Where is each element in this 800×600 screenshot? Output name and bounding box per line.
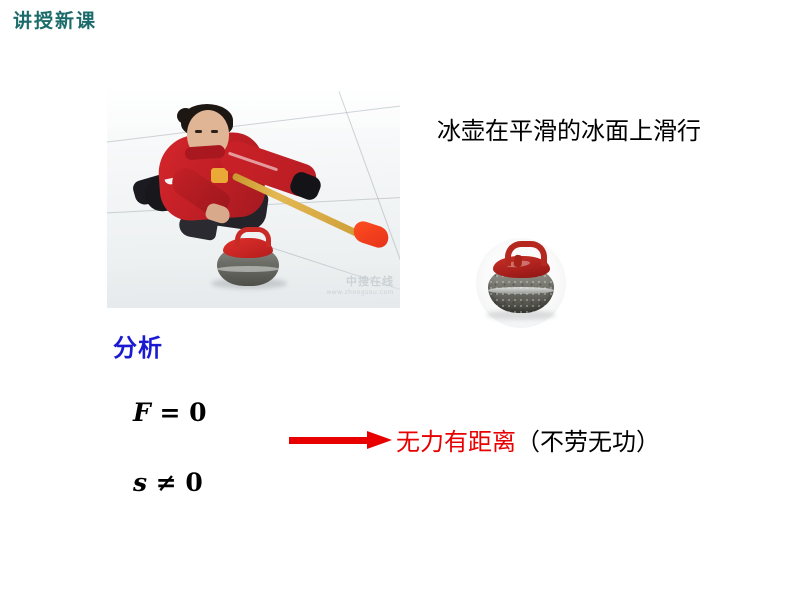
watermark-text: 中搜在线 <box>346 275 394 288</box>
athlete-eye <box>211 130 218 133</box>
conclusion-remainder: （不劳无功） <box>516 428 660 456</box>
athlete-eye <box>195 130 202 133</box>
photo-watermark: 中搜在线 www.zhongsou.com <box>326 275 394 296</box>
slide-canvas: 讲授新课 <box>0 0 800 600</box>
red-arrow-icon <box>289 430 392 450</box>
curling-stone-graphic <box>466 231 574 335</box>
athlete-collar <box>185 145 226 161</box>
arrow-head <box>367 431 392 449</box>
formula-force: F = 0 <box>133 398 207 427</box>
formula-force-relation: = 0 <box>151 398 207 427</box>
arrow-shaft <box>289 437 371 444</box>
curling-stone-band <box>217 266 279 272</box>
formula-distance-relation: ≠ 0 <box>147 468 203 497</box>
curling-photo: 中搜在线 www.zhongsou.com <box>107 86 400 308</box>
formula-force-variable: F <box>133 398 151 427</box>
photo-caption: 冰壶在平滑的冰面上滑行 <box>437 111 701 146</box>
section-title: 讲授新课 <box>13 10 97 33</box>
formula-distance: s ≠ 0 <box>133 468 203 497</box>
analysis-label: 分析 <box>113 328 163 363</box>
stone-running-band <box>488 287 554 294</box>
conclusion-highlight: 无力有距离 <box>396 428 516 456</box>
conclusion-text: 无力有距离（不劳无功） <box>396 422 660 457</box>
formula-distance-variable: s <box>133 468 147 497</box>
watermark-subtext: www.zhongsou.com <box>326 289 394 297</box>
curling-stone-handle <box>235 227 271 247</box>
stone-handle-arc <box>505 241 547 266</box>
